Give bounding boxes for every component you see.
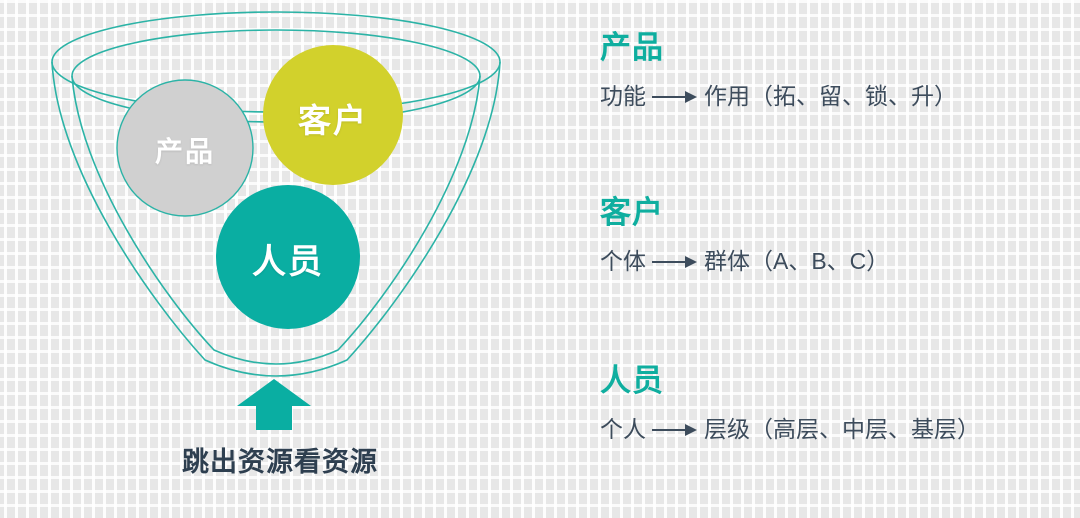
section-staff: 人员 个人 层级（高层、中层、基层）	[600, 363, 1070, 445]
arrow-right-icon	[652, 87, 698, 107]
section-customer-heading: 客户	[600, 195, 1070, 231]
section-staff-from: 个人	[600, 415, 646, 445]
section-customer: 客户 个体 群体（A、B、C）	[600, 195, 1070, 277]
section-product-to: 作用（拓、留、锁、升）	[704, 82, 957, 112]
section-staff-to: 层级（高层、中层、基层）	[704, 415, 980, 445]
upward-arrow-icon	[237, 379, 311, 430]
bubble-product[interactable]	[117, 80, 253, 216]
section-staff-body: 个人 层级（高层、中层、基层）	[600, 415, 1070, 445]
section-customer-body: 个体 群体（A、B、C）	[600, 247, 1070, 277]
arrow-right-icon	[652, 252, 698, 272]
diagram-caption: 跳出资源看资源	[0, 440, 560, 479]
text-column: 产品 功能 作用（拓、留、锁、升） 客户 个体 群体（A、B、C） 人员	[600, 0, 1070, 518]
arrow-right-icon	[652, 420, 698, 440]
section-product-heading: 产品	[600, 30, 1070, 66]
section-customer-from: 个体	[600, 247, 646, 277]
section-product: 产品 功能 作用（拓、留、锁、升）	[600, 30, 1070, 112]
funnel-diagram: 产品 客户 人员 跳出资源看资源	[0, 0, 560, 518]
slide-canvas: 产品 客户 人员 跳出资源看资源 产品 功能 作用（拓、留、锁、升） 客户 个体	[0, 0, 1080, 518]
section-customer-to: 群体（A、B、C）	[704, 247, 889, 277]
bubble-staff[interactable]	[216, 185, 360, 329]
section-product-from: 功能	[600, 82, 646, 112]
bubble-customer[interactable]	[263, 45, 403, 185]
section-staff-heading: 人员	[600, 363, 1070, 399]
section-product-body: 功能 作用（拓、留、锁、升）	[600, 82, 1070, 112]
